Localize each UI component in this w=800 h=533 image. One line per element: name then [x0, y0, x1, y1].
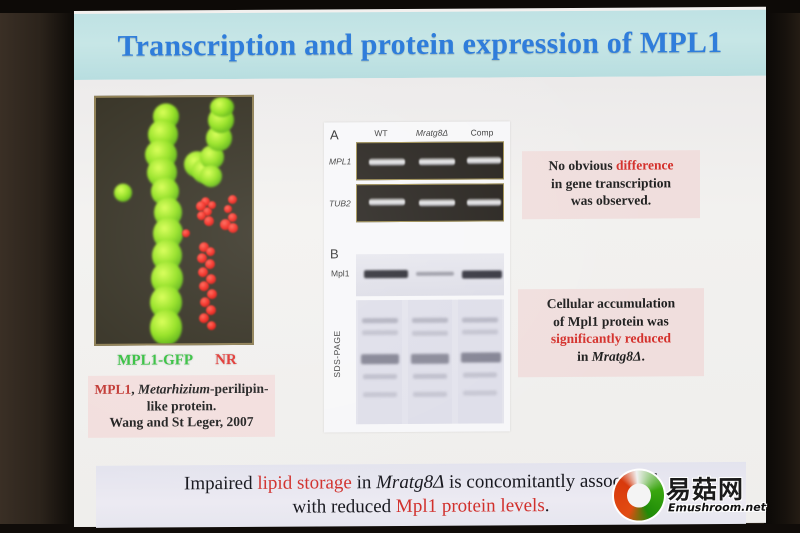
note1-text-a: No obvious	[548, 158, 616, 173]
conclusion-text-e: .	[545, 495, 550, 516]
micrograph-canvas	[96, 97, 252, 344]
caption-mpl1-gfp: MPL1-GFP	[117, 352, 193, 369]
conclusion-text-a: Impaired	[184, 473, 257, 494]
row-label-tub2: TUB2	[329, 198, 351, 208]
figure-panel: A WT Mratg8Δ Comp MPL1 TUB2	[324, 121, 510, 432]
reference-genus: Metarhizium	[138, 381, 210, 396]
note2-in: in	[577, 348, 592, 363]
emushroom-logo-icon	[614, 470, 664, 520]
reference-line-1: MPL1, Metarhizium-perilipin-	[94, 381, 268, 399]
watermark-english-text: Emushroom.net	[668, 501, 766, 515]
projected-slide-photo: Transcription and protein expression of …	[0, 0, 800, 533]
lane-header-wt: WT	[374, 128, 387, 138]
note2-strain: Mratg8Δ	[592, 348, 642, 363]
note-transcription: No obvious difference in gene transcript…	[522, 150, 700, 219]
slide-title-band: Transcription and protein expression of …	[74, 10, 766, 80]
sds-page-gel	[356, 299, 504, 424]
panel-a-label: A	[330, 127, 339, 142]
caption-nr: NR	[215, 352, 237, 369]
reference-box: MPL1, Metarhizium-perilipin- like protei…	[88, 375, 275, 438]
conclusion-highlight-lipid: lipid storage	[257, 472, 351, 494]
fluorescence-micrograph	[94, 95, 254, 346]
reference-comma: ,	[131, 382, 134, 397]
room-surround-left	[0, 0, 74, 533]
page-title: Transcription and protein expression of …	[118, 26, 723, 64]
conclusion-line-1: Impaired lipid storage in Mratg8Δ is con…	[184, 469, 658, 496]
slide-body: MPL1-GFP NR MPL1, Metarhizium-perilipin-…	[74, 76, 766, 527]
note2-line-3: significantly reduced	[526, 329, 696, 348]
watermark: 易菇网 Emushroom.net	[614, 468, 764, 523]
conclusion-text-d: with reduced	[293, 496, 396, 518]
micrograph-caption: MPL1-GFP NR	[94, 349, 260, 372]
lane-headers: WT Mratg8Δ Comp	[354, 127, 504, 141]
row-label-mpl1: MPL1	[329, 156, 351, 166]
reference-line-3: Wang and St Leger, 2007	[110, 414, 254, 431]
note2-line-4: in Mratg8Δ.	[526, 347, 696, 366]
slide: Transcription and protein expression of …	[74, 7, 766, 527]
conclusion-line-2: with reduced Mpl1 protein levels.	[293, 494, 550, 520]
note1-line-1: No obvious difference	[530, 156, 692, 175]
conclusion-strain: Mratg8Δ	[376, 471, 444, 492]
western-blot-mpl1	[356, 253, 504, 296]
gel-mpl1	[356, 141, 504, 180]
note-protein: Cellular accumulation of Mpl1 protein wa…	[518, 288, 704, 377]
note2-line-2: of Mpl1 protein was	[526, 312, 696, 331]
sds-page-label: SDS-PAGE	[332, 330, 342, 377]
lane-header-mratg8: Mratg8Δ	[416, 128, 448, 138]
note1-highlight: difference	[616, 157, 673, 172]
reference-suffix: -perilipin-	[210, 381, 269, 396]
note2-line-1: Cellular accumulation	[526, 294, 696, 313]
lane-header-comp: Comp	[471, 127, 494, 137]
conclusion-text-b: in	[352, 472, 376, 493]
conclusion-highlight-mpl1: Mpl1 protein levels	[396, 495, 545, 517]
reference-line-2: like protein.	[147, 398, 217, 415]
note1-line-2: in gene transcription	[530, 174, 692, 193]
panel-b-label: B	[330, 246, 339, 261]
note2-period: .	[642, 348, 645, 363]
gel-tub2	[356, 183, 504, 222]
room-surround-right	[764, 0, 800, 533]
reference-mpl1: MPL1	[94, 382, 131, 397]
note1-line-3: was observed.	[530, 191, 692, 210]
row-label-mpl1-protein: Mpl1	[331, 268, 349, 278]
